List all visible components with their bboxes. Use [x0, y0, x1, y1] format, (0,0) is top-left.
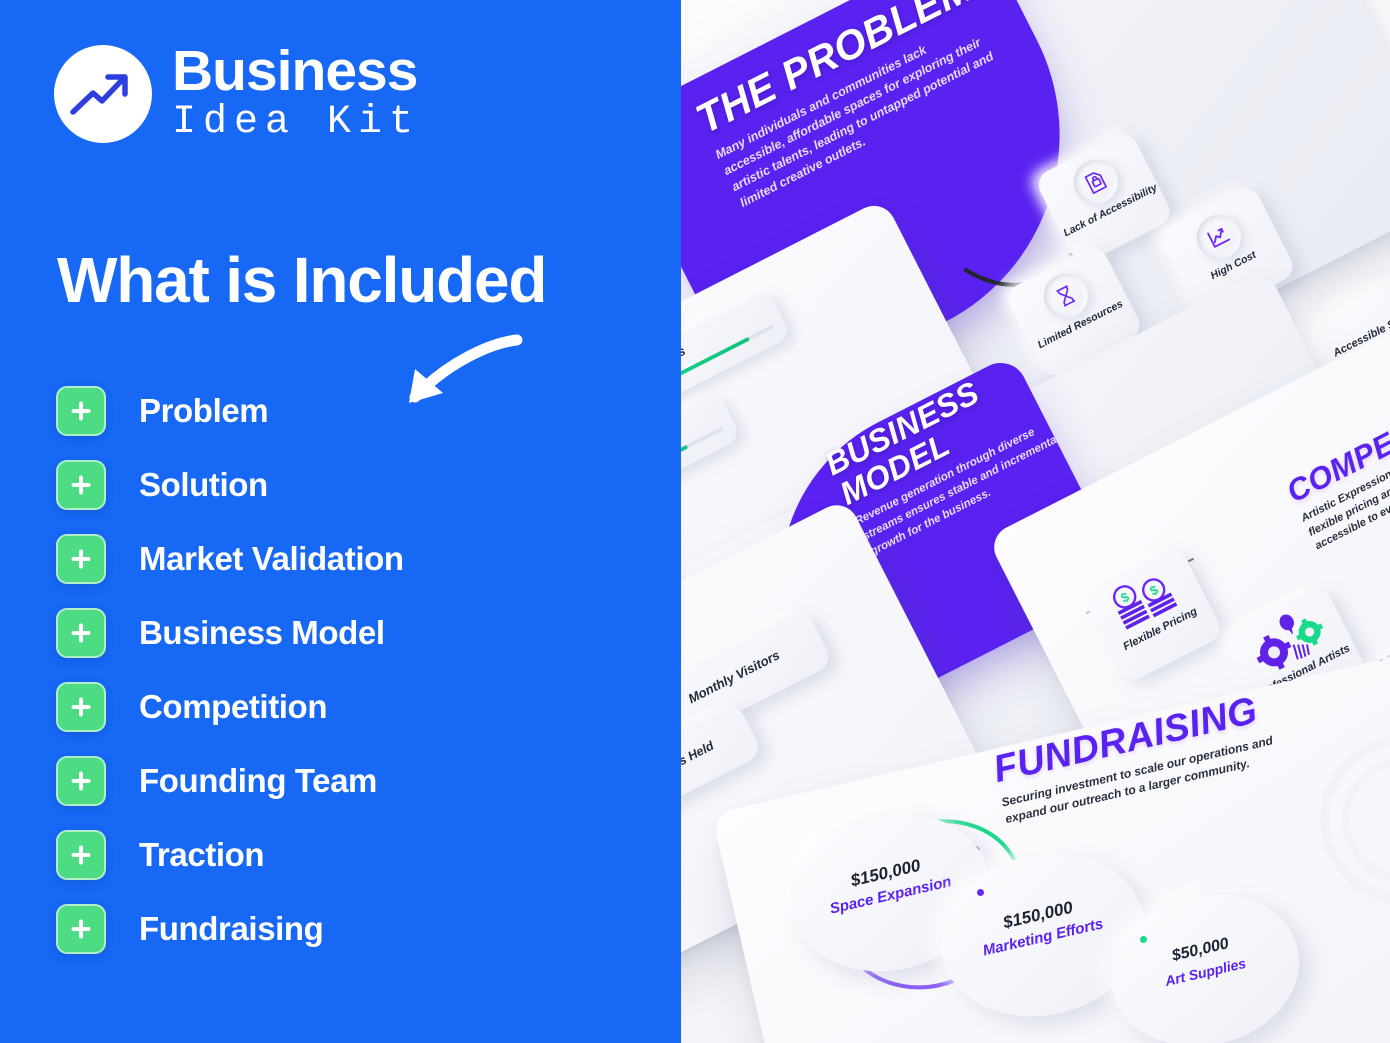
list-item-label: Traction	[139, 836, 264, 874]
list-item[interactable]: Solution	[56, 462, 656, 508]
brand-logo-text: Business Idea Kit	[172, 44, 420, 144]
deck-mockup-area: THE PROBLEM Many individuals and communi…	[620, 0, 1390, 1043]
list-item-label: Solution	[139, 466, 268, 504]
list-item-label: Competition	[139, 688, 327, 726]
left-blue-panel: Business Idea Kit What is Included Probl…	[0, 0, 681, 1043]
list-item-label: Business Model	[139, 614, 385, 652]
fundraising-connector-dot	[1140, 936, 1147, 943]
plus-icon	[56, 904, 106, 954]
fundraising-connector-dot	[977, 889, 984, 896]
brand-name-primary: Business	[172, 44, 420, 100]
plus-icon	[56, 460, 106, 510]
list-item-label: Founding Team	[139, 762, 377, 800]
brand-name-secondary: Idea Kit	[172, 102, 420, 144]
list-item[interactable]: Founding Team	[56, 758, 656, 804]
plus-icon	[56, 756, 106, 806]
page-title: What is Included	[57, 243, 546, 317]
plus-icon	[56, 682, 106, 732]
promo-image: THE PROBLEM Many individuals and communi…	[0, 0, 1390, 1043]
plus-icon	[56, 830, 106, 880]
svg-text:$: $	[1147, 582, 1161, 599]
plus-icon	[56, 386, 106, 436]
included-items-list: Problem Solution Market Validation Busin…	[56, 388, 656, 980]
brand-logo: Business Idea Kit	[54, 44, 420, 144]
list-item[interactable]: Competition	[56, 684, 656, 730]
plus-icon	[56, 608, 106, 658]
list-item[interactable]: Fundraising	[56, 906, 656, 952]
list-item[interactable]: Problem	[56, 388, 656, 434]
svg-text:$: $	[1118, 589, 1132, 606]
list-item[interactable]: Market Validation	[56, 536, 656, 582]
plus-icon	[56, 534, 106, 584]
list-item-label: Fundraising	[139, 910, 323, 948]
growth-chart-arrow-icon	[54, 45, 152, 143]
list-item[interactable]: Traction	[56, 832, 656, 878]
list-item-label: Market Validation	[139, 540, 404, 578]
list-item-label: Problem	[139, 392, 268, 430]
list-item[interactable]: Business Model	[56, 610, 656, 656]
